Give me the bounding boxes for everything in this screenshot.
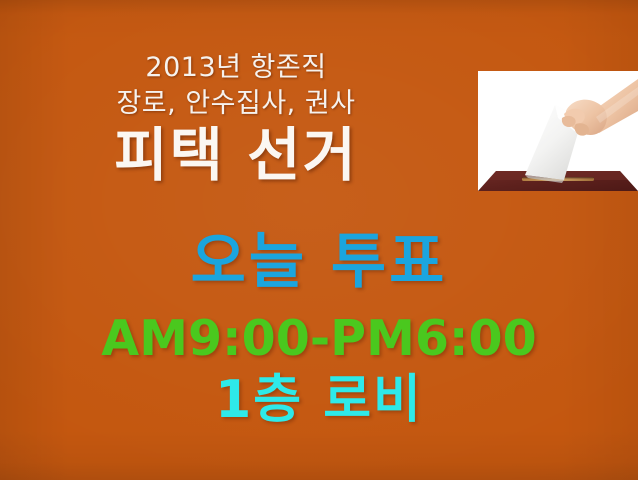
election-poster: 2013년 항존직 장로, 안수집사, 권사 피택 선거 오늘 투표 AM9:0… <box>0 0 638 480</box>
vote-today-text: 오늘 투표 <box>0 232 638 292</box>
subtitle-line-1: 2013년 항존직 <box>0 54 472 81</box>
subtitle-line-2: 장로, 안수집사, 권사 <box>0 90 472 117</box>
vote-location-text: 1층 로비 <box>0 374 638 426</box>
ballot-box-photo <box>478 71 638 191</box>
vote-hours-text: AM9:00-PM6:00 <box>0 314 638 363</box>
ballot-box-illustration <box>478 71 638 191</box>
page-title: 피택 선거 <box>0 126 472 184</box>
